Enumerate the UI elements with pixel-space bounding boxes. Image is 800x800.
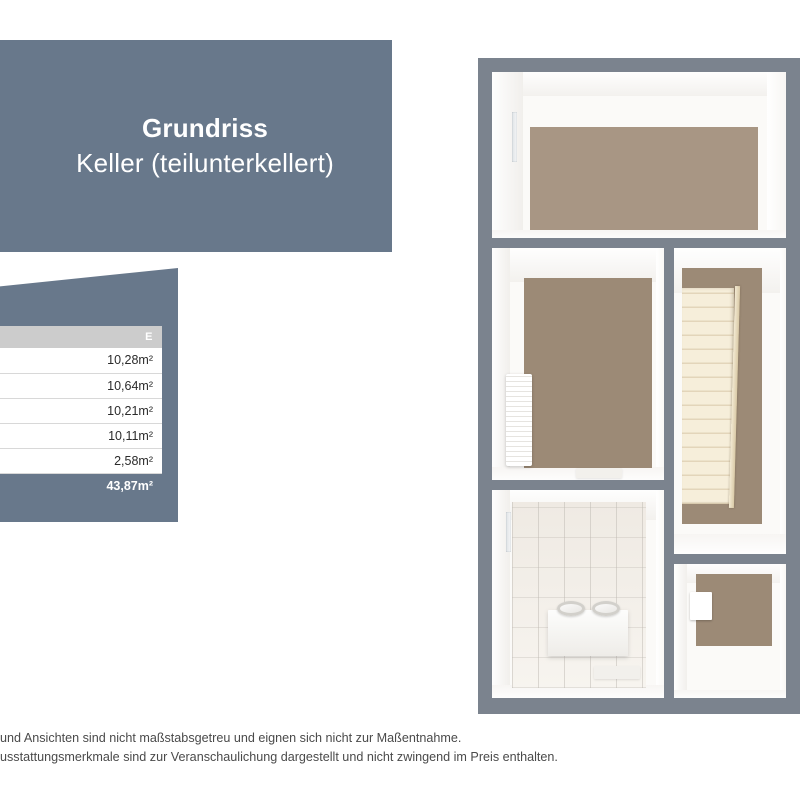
room-area: 10,11m² bbox=[39, 423, 162, 448]
disclaimer-line-2: usstattungsmerkmale sind zur Veranschaul… bbox=[0, 748, 720, 767]
wall-exterior-left bbox=[478, 58, 492, 714]
room-name: 2 bbox=[0, 398, 39, 423]
wall-vertical-center bbox=[664, 238, 674, 700]
room-wall-top bbox=[490, 70, 788, 96]
room-name bbox=[0, 423, 39, 448]
room-area: 2,58m² bbox=[39, 448, 162, 473]
wall-horizontal-2 bbox=[478, 480, 674, 490]
area-table-foot: 43,87m² bbox=[0, 473, 162, 499]
floor-mat bbox=[594, 666, 640, 679]
area-table-body: m 10,28m² 1 10,64m² 2 10,21m² 10,11m² 2,… bbox=[0, 348, 162, 473]
wall-exterior-top bbox=[478, 58, 800, 72]
table-total-row: 43,87m² bbox=[0, 473, 162, 499]
room-wall-right bbox=[767, 70, 788, 242]
title-block: Grundriss Keller (teilunterkellert) bbox=[0, 112, 392, 180]
table-row: 2 10,21m² bbox=[0, 398, 162, 423]
table-row: 2,58m² bbox=[0, 448, 162, 473]
washing-machine-dryer-unit bbox=[548, 610, 628, 656]
area-table-header-row: E bbox=[0, 326, 162, 348]
disclaimer-line-1: und Ansichten sind nicht maßstabsgetreu … bbox=[0, 729, 720, 748]
area-table: E m 10,28m² 1 10,64m² 2 10,21m² 10,11m² bbox=[0, 326, 162, 499]
room-treppenhaus bbox=[674, 246, 788, 556]
room-wall-left bbox=[490, 70, 523, 242]
room-name bbox=[0, 448, 39, 473]
disclaimer: und Ansichten sind nicht maßstabsgetreu … bbox=[0, 729, 720, 767]
floor-mat bbox=[576, 468, 622, 478]
window-icon bbox=[512, 112, 517, 162]
washing-machine-drum-icon bbox=[557, 601, 585, 616]
area-table-head: E bbox=[0, 326, 162, 348]
room-area: 10,28m² bbox=[39, 348, 162, 373]
column-header-room bbox=[0, 326, 39, 348]
wall-horizontal-3 bbox=[668, 554, 800, 564]
floor-surface-wood bbox=[530, 127, 758, 230]
room-wall-left bbox=[674, 562, 687, 700]
table-row: 10,11m² bbox=[0, 423, 162, 448]
room-kellerraum-oben bbox=[490, 70, 788, 242]
room-wall-top bbox=[490, 246, 668, 282]
room-name: 1 bbox=[0, 373, 39, 398]
room-hauswirtschaftsraum bbox=[490, 488, 668, 700]
wall-horizontal-1 bbox=[478, 238, 800, 248]
page-title: Grundriss bbox=[18, 112, 392, 145]
radiator-icon bbox=[506, 374, 532, 466]
total-area: 43,87m² bbox=[39, 473, 162, 499]
floor-surface-wood bbox=[524, 278, 652, 468]
title-panel: Grundriss Keller (teilunterkellert) bbox=[0, 40, 392, 252]
window-icon bbox=[506, 512, 511, 552]
room-kellerraum-unten-rechts bbox=[674, 562, 788, 700]
room-wall-bottom bbox=[674, 534, 788, 556]
door-icon bbox=[690, 592, 712, 620]
room-kellerraum-mitte-links bbox=[490, 246, 668, 484]
stair-treads bbox=[682, 288, 734, 504]
wall-exterior-bottom bbox=[478, 698, 800, 714]
table-row: m 10,28m² bbox=[0, 348, 162, 373]
staircase bbox=[682, 288, 734, 504]
room-name: m bbox=[0, 348, 39, 373]
floor-surface-tile bbox=[512, 502, 646, 688]
room-area: 10,64m² bbox=[39, 373, 162, 398]
column-header-area: E bbox=[39, 326, 162, 348]
total-label bbox=[0, 473, 39, 499]
table-row: 1 10,64m² bbox=[0, 373, 162, 398]
area-table-panel: E m 10,28m² 1 10,64m² 2 10,21m² 10,11m² bbox=[0, 268, 178, 522]
dryer-drum-icon bbox=[592, 601, 620, 616]
floorplan-render bbox=[478, 58, 800, 714]
page-subtitle: Keller (teilunterkellert) bbox=[18, 146, 392, 180]
room-area: 10,21m² bbox=[39, 398, 162, 423]
wall-exterior-right bbox=[786, 58, 800, 714]
